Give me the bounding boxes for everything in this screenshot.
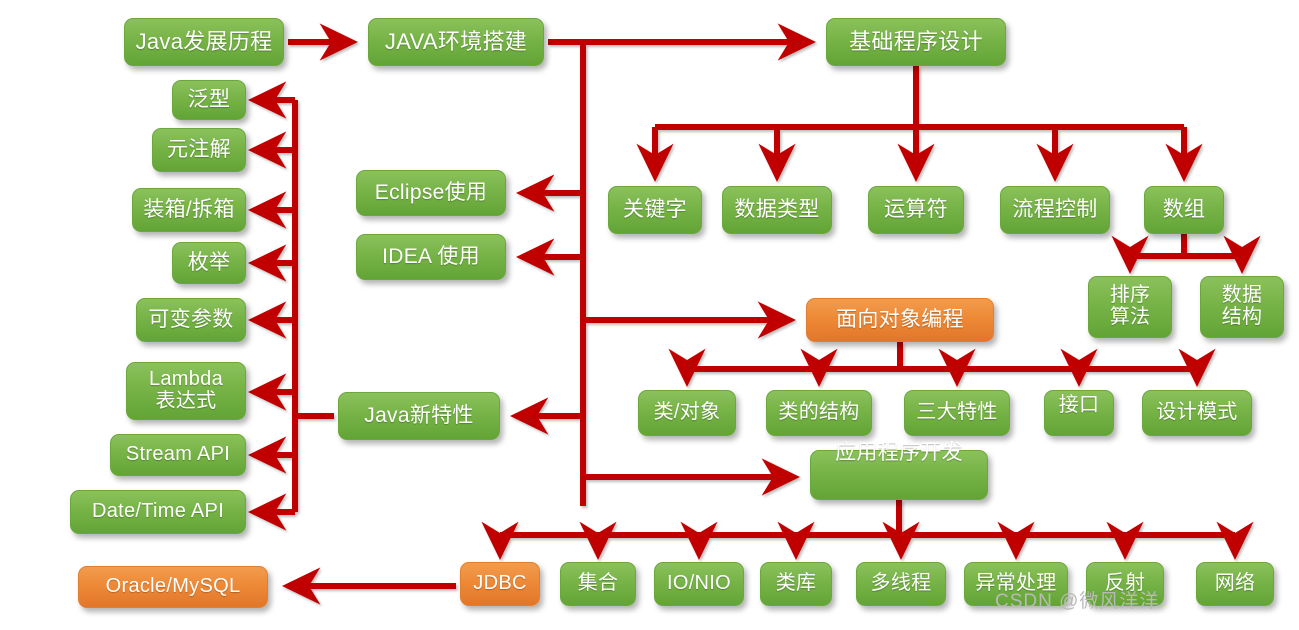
node-keyword[interactable]: 关键字 [608,186,702,234]
node-collection[interactable]: 集合 [560,562,636,606]
node-stream-api[interactable]: Stream API [110,434,246,476]
node-boxing-unboxing[interactable]: 装箱/拆箱 [132,188,246,232]
node-label: 装箱/拆箱 [143,199,234,222]
node-label: Eclipse使用 [375,182,487,205]
node-label: 异常处理 [975,573,1056,595]
node-label: 集合 [578,573,619,595]
node-label: Lambda 表达式 [149,369,223,412]
node-label: Date/Time API [92,501,224,523]
node-io-nio[interactable]: IO/NIO [654,562,744,606]
node-label: 排序 算法 [1110,285,1151,328]
node-label: 多线程 [871,573,932,595]
node-class-object[interactable]: 类/对象 [638,390,736,436]
node-flow-control[interactable]: 流程控制 [1000,186,1110,234]
node-design-pattern[interactable]: 设计模式 [1142,390,1252,436]
node-meta-annotation[interactable]: 元注解 [152,128,246,172]
node-app-development[interactable]: 应用程序开发 [810,450,988,500]
node-oop[interactable]: 面向对象编程 [806,298,994,342]
node-data-type[interactable]: 数据类型 [722,186,832,234]
node-eclipse[interactable]: Eclipse使用 [356,170,506,216]
node-enum[interactable]: 枚举 [172,242,246,284]
node-label: JDBC [473,573,526,595]
node-sort-algorithm[interactable]: 排序 算法 [1088,276,1172,338]
node-generics[interactable]: 泛型 [172,80,246,120]
node-data-structure[interactable]: 数据 结构 [1200,276,1284,338]
node-label: 枚举 [188,252,231,275]
node-class-structure[interactable]: 类的结构 [766,390,872,436]
node-label: 反射 [1105,573,1146,595]
node-label: 设计模式 [1156,402,1237,424]
node-idea[interactable]: IDEA 使用 [356,234,506,280]
node-label: 泛型 [188,89,231,112]
node-basic-program[interactable]: 基础程序设计 [826,18,1006,66]
node-label: 网络 [1215,573,1256,595]
node-date-time-api[interactable]: Date/Time API [70,490,246,534]
node-label: Java发展历程 [136,30,273,54]
edge-env-main-spine [548,42,583,506]
node-label: 数据类型 [734,199,819,222]
node-label: Oracle/MySQL [106,576,241,598]
node-label: 运算符 [884,199,948,222]
node-label: 可变参数 [148,309,233,332]
node-jdbc[interactable]: JDBC [460,562,540,606]
node-label: 三大特性 [916,402,997,424]
node-exception[interactable]: 异常处理 [964,562,1068,606]
node-label: IO/NIO [667,573,731,595]
node-label: 类库 [776,573,817,595]
edge-newfeature-spine [295,100,334,512]
node-label: 关键字 [623,199,687,222]
node-label: 应用程序开发 [835,442,963,465]
node-label: IDEA 使用 [382,246,480,269]
node-interface[interactable]: 接口 [1044,390,1114,436]
node-oracle-mysql[interactable]: Oracle/MySQL [78,566,268,608]
node-label: 基础程序设计 [849,30,983,54]
node-label: 数组 [1163,199,1206,222]
node-label: 接口 [1059,395,1100,417]
node-label: 数据 结构 [1222,285,1263,328]
node-network[interactable]: 网络 [1196,562,1274,606]
node-label: 类/对象 [654,402,721,424]
node-label: 面向对象编程 [836,309,964,332]
diagram-canvas: Java发展历程JAVA环境搭建基础程序设计泛型元注解装箱/拆箱枚举可变参数La… [0,0,1299,630]
node-lambda[interactable]: Lambda 表达式 [126,362,246,420]
node-array[interactable]: 数组 [1144,186,1224,234]
node-java-new-feature[interactable]: Java新特性 [338,392,500,440]
node-label: 类的结构 [778,402,859,424]
node-three-features[interactable]: 三大特性 [904,390,1010,436]
node-label: JAVA环境搭建 [385,30,527,54]
node-class-library[interactable]: 类库 [760,562,832,606]
node-varargs[interactable]: 可变参数 [136,298,246,342]
node-label: Java新特性 [364,405,473,428]
node-operator[interactable]: 运算符 [868,186,964,234]
node-label: 流程控制 [1012,199,1097,222]
node-java-env-setup[interactable]: JAVA环境搭建 [368,18,544,66]
node-reflection[interactable]: 反射 [1086,562,1164,606]
node-multithread[interactable]: 多线程 [856,562,946,606]
node-label: 元注解 [167,139,231,162]
node-label: Stream API [126,444,230,466]
node-java-history[interactable]: Java发展历程 [124,18,284,66]
